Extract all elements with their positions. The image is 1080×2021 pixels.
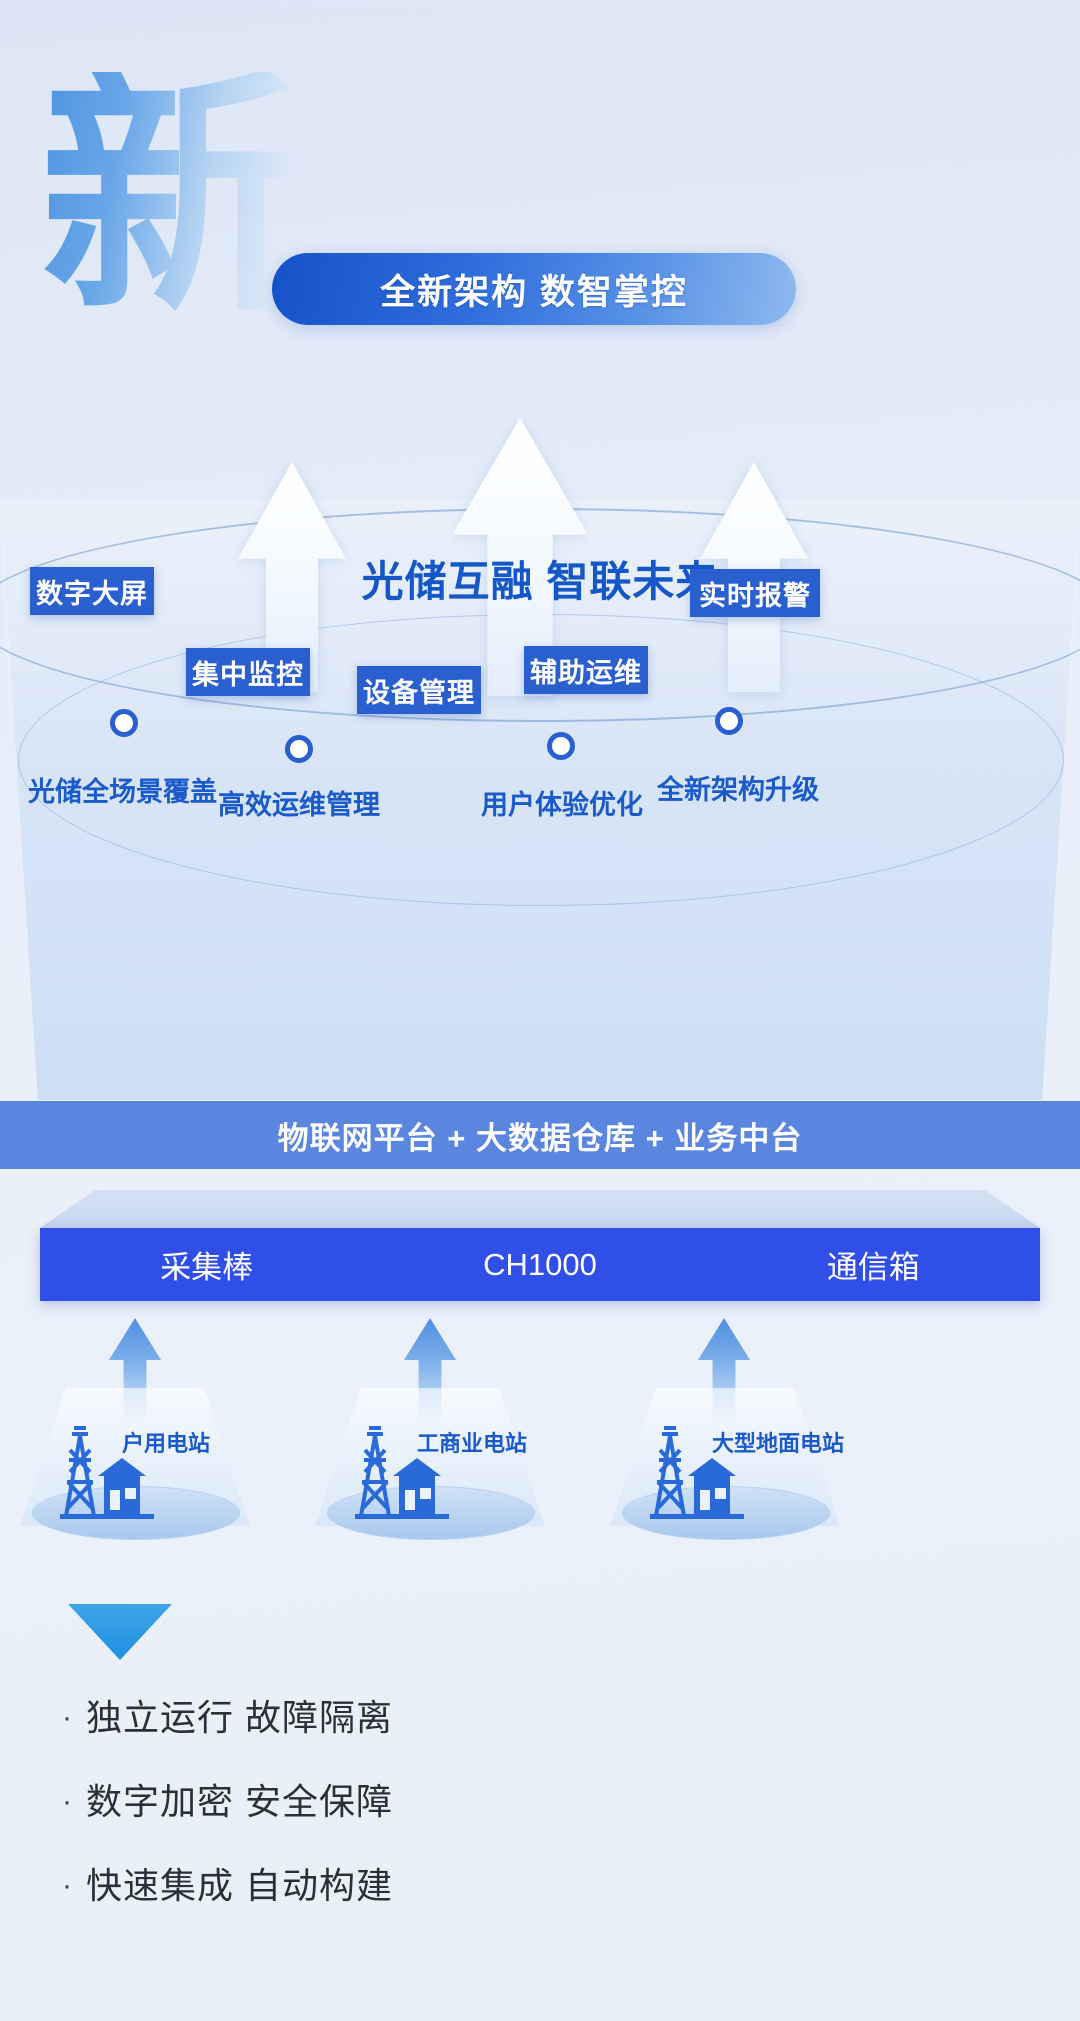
- feature-dot-icon-3: [547, 732, 575, 760]
- list-item: · 独立运行 故障隔离: [62, 1700, 682, 1736]
- tag-device-management[interactable]: 设备管理: [357, 666, 481, 714]
- device-item-ch1000[interactable]: CH1000: [373, 1247, 706, 1283]
- bullet-text: 快速集成 自动构建: [86, 1868, 393, 1904]
- tag-label: 实时报警: [699, 574, 811, 613]
- bullet-marker: ·: [62, 1784, 72, 1820]
- iot-platform-label: 物联网平台 + 大数据仓库 + 业务中台: [278, 1113, 803, 1158]
- device-bar: 采集棒 CH1000 通信箱: [40, 1228, 1040, 1301]
- station-label: 户用电站: [122, 1426, 210, 1458]
- station-commercial: 工商业电站: [305, 1400, 555, 1550]
- feature-label-2: 高效运维管理: [218, 783, 380, 822]
- tag-label: 设备管理: [363, 671, 475, 710]
- tag-digital-screen[interactable]: 数字大屏: [30, 567, 154, 615]
- bullet-text: 独立运行 故障隔离: [86, 1700, 393, 1736]
- down-triangle-icon: [68, 1604, 172, 1660]
- iot-platform-bar: 物联网平台 + 大数据仓库 + 业务中台: [0, 1101, 1080, 1169]
- tag-label: 数字大屏: [36, 572, 148, 611]
- bullet-text: 数字加密 安全保障: [86, 1784, 393, 1820]
- station-label: 工商业电站: [417, 1426, 527, 1458]
- bullet-marker: ·: [62, 1868, 72, 1904]
- hero-decorative-glyph: 新: [40, 72, 300, 322]
- tag-central-monitoring[interactable]: 集中监控: [186, 648, 310, 696]
- feature-label-3: 用户体验优化: [481, 783, 643, 822]
- hero-banner: 全新架构 数智掌控: [272, 253, 796, 325]
- list-item: · 快速集成 自动构建: [62, 1868, 682, 1904]
- device-bar-top-face: [0, 1190, 1080, 1228]
- benefit-list: · 独立运行 故障隔离 · 数字加密 安全保障 · 快速集成 自动构建: [62, 1700, 682, 1952]
- feature-dot-icon-2: [285, 735, 313, 763]
- station-label: 大型地面电站: [712, 1426, 844, 1458]
- station-residential: 户用电站: [10, 1400, 260, 1550]
- tag-label: 辅助运维: [530, 651, 642, 690]
- device-item-comm-box[interactable]: 通信箱: [707, 1242, 1040, 1287]
- tag-assisted-ops[interactable]: 辅助运维: [524, 646, 648, 694]
- feature-label-4: 全新架构升级: [657, 768, 819, 807]
- tag-label: 集中监控: [192, 653, 304, 692]
- feature-label-1: 光储全场景覆盖: [28, 770, 217, 809]
- station-utility: 大型地面电站: [600, 1400, 850, 1550]
- feature-dot-icon-1: [110, 709, 138, 737]
- feature-dot-icon-4: [715, 707, 743, 735]
- hero-section: 新 全新架构 数智掌控: [0, 0, 1080, 470]
- bullet-marker: ·: [62, 1700, 72, 1736]
- device-item-collector[interactable]: 采集棒: [40, 1242, 373, 1287]
- hero-banner-label: 全新架构 数智掌控: [380, 264, 688, 315]
- platform-center-title: 光储互融 智联未来: [0, 548, 1080, 609]
- infographic-canvas: 新 全新架构 数智掌控 光储互融 智联未来 数字大屏 实时报警 集中监控 设备管…: [0, 0, 1080, 2021]
- tag-realtime-alarm[interactable]: 实时报警: [690, 569, 820, 617]
- list-item: · 数字加密 安全保障: [62, 1784, 682, 1820]
